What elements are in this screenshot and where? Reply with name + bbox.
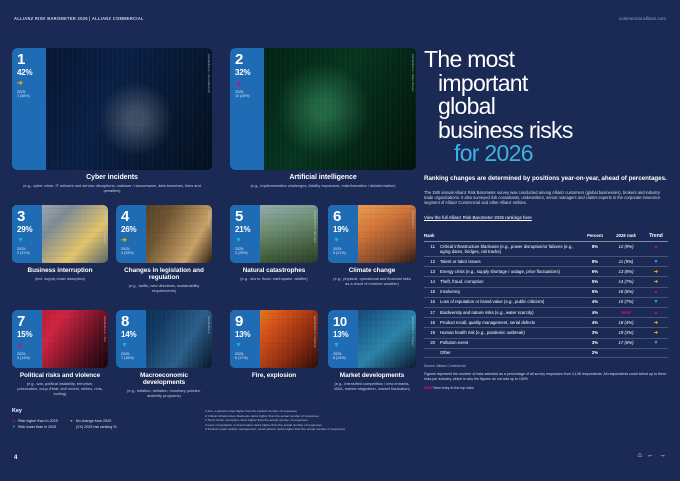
cell-prev-rank: NEW — [608, 310, 644, 315]
risk-percent-9: 13% — [235, 330, 260, 339]
new-key-text: New entry in the top risks — [433, 386, 473, 390]
cell-rank: 13 — [424, 269, 440, 274]
table-header-row: Rank Percent 2025 rank Trend — [424, 232, 668, 243]
risk-title-10: Market developments — [332, 372, 412, 379]
cell-prev-rank: 14 (7%) — [608, 279, 644, 284]
risk-card-4-badge: 4 26% ➔ 2025:4 (25%) — [116, 205, 146, 263]
risk-percent-5: 21% — [235, 225, 260, 234]
trend-arrow-right-icon-1: ➔ — [17, 80, 46, 87]
risk-subtitle-10: (e.g., intensified competition / new ent… — [332, 381, 412, 391]
new-tag-label: NEW — [424, 386, 432, 390]
risk-subtitle-3: (incl. supply chain disruption) — [16, 276, 104, 281]
risk-rank-7: 7 — [17, 315, 42, 329]
risk-card-9[interactable]: AdobeStock / Pamela 9 13% ▼ 2025:6 (17%)… — [230, 310, 318, 381]
cell-rank: 20 — [424, 340, 440, 345]
table-body: 11Critical infrastructure blackouts (e.g… — [424, 242, 668, 358]
risk-card-5-media: AdobeStock / Michael 5 21% ▼ 2025:3 (29%… — [230, 205, 318, 263]
cell-prev-rank: 15 (7%) — [608, 299, 644, 304]
cell-prev-rank: 19 (3%) — [608, 330, 644, 335]
risk-card-10-badge: 10 13% ▼ 2025:8 (14%) — [328, 310, 358, 368]
cell-rank: 14 — [424, 279, 440, 284]
risk-prev-10: 2025:8 (14%) — [333, 352, 358, 361]
key-item-prev-ranking: (XX) 2025 risk ranking % — [70, 424, 117, 430]
title-line-3: global — [424, 95, 668, 119]
photo-credit-3: AdobeStock / Siwakorn — [103, 211, 107, 245]
risk-subtitle-4: (e.g., tariffs, new directives, sustaina… — [120, 283, 208, 293]
risk-prev-8: 2025:7 (16%) — [121, 352, 146, 361]
risk-card-1-caption: Cyber incidents (e.g., cyber crime, IT n… — [12, 174, 212, 193]
legend-key: Key ▲Risk higher than in 2025 ▼Risk lowe… — [12, 408, 212, 431]
next-page-icon[interactable]: → — [659, 452, 666, 459]
table-row: 15Insolvency5%16 (6%)▲ — [424, 288, 668, 298]
risk-rank-4: 4 — [121, 210, 146, 224]
table-row: 18Product recall, quality management, se… — [424, 318, 668, 328]
cell-trend-icon: ▼ — [644, 299, 668, 305]
nav-controls[interactable]: ⌂ ← → — [638, 452, 666, 459]
prev-page-icon[interactable]: ← — [647, 452, 654, 459]
cell-trend-icon: ▲ — [644, 289, 668, 295]
table-row: 17Biodiversity and nature risks (e.g., w… — [424, 308, 668, 318]
page-number: 4 — [14, 455, 17, 461]
risk-card-1-badge: 1 42% ➔ 2025:1 (38%) — [12, 48, 46, 170]
table-source: Source: Allianz Commercial — [424, 364, 668, 368]
cell-prev-rank: 13 (8%) — [608, 269, 644, 274]
cell-risk: Other — [440, 350, 582, 355]
risk-card-2[interactable]: AdobeStock / Blue Planet 2 32% ▲ 2025:10… — [230, 48, 416, 188]
risk-card-6[interactable]: AdobeStock 6 19% ▼ 2025:5 (21%) Climate … — [328, 205, 416, 286]
title-line-2: important — [424, 72, 668, 96]
trend-arrow-down-icon-6: ▼ — [333, 237, 358, 244]
footnotes-list: 1 Fire, explosion rises higher than the … — [205, 409, 417, 432]
risk-card-3[interactable]: AdobeStock / Siwakorn 3 29% ▼ 2025:2 (31… — [12, 205, 108, 281]
risk-rank-5: 5 — [235, 210, 260, 224]
risk-card-6-media: AdobeStock 6 19% ▼ 2025:5 (21%) — [328, 205, 416, 263]
risk-subtitle-1: (e.g., cyber crime, IT network and servi… — [16, 183, 208, 193]
cell-risk: Loss of reputation or brand value (e.g.,… — [440, 299, 582, 304]
col-header-trend: Trend — [644, 233, 668, 239]
cell-rank: 18 — [424, 320, 440, 325]
page-title: The most important global business risks… — [424, 48, 668, 166]
risk-rank-3: 3 — [17, 210, 42, 224]
brand-label: ALLIANZ RISK BAROMETER 2026 | ALLIANZ CO… — [14, 16, 144, 21]
risk-title-1: Cyber incidents — [16, 174, 208, 181]
risk-prev-7: 2025:9 (14%) — [17, 352, 42, 361]
new-entry-key: NEW New entry in the top risks — [424, 386, 668, 390]
risk-card-7-caption: Political risks and violence (e.g., war,… — [12, 372, 108, 396]
cell-rank: 15 — [424, 289, 440, 294]
table-row: 19Human health risk (e.g., pandemic outb… — [424, 328, 668, 338]
cell-trend-icon: ▲ — [644, 244, 668, 250]
risk-percent-8: 14% — [121, 330, 146, 339]
cell-trend-icon: ➔ — [644, 330, 668, 336]
risk-card-8[interactable]: AdobeStock 8 14% ▼ 2025:7 (16%) Macroeco… — [116, 310, 212, 398]
risk-rank-9: 9 — [235, 315, 260, 329]
risk-card-7-media: AdobeStock / Yuri 7 15% ▲ 2025:9 (14%) — [12, 310, 108, 368]
risk-subtitle-5: (e.g., storm, flood, earthquake, wildfir… — [234, 276, 314, 281]
risk-card-1-media: AdobeStock / Gorodenkoff 1 42% ➔ 2025:1 … — [12, 48, 212, 170]
risk-percent-2: 32% — [235, 68, 264, 77]
cell-percent: 5% — [582, 289, 608, 294]
risk-percent-10: 13% — [333, 330, 358, 339]
risk-card-4-caption: Changes in legislation and regulation (e… — [116, 267, 212, 293]
risk-prev-6: 2025:5 (21%) — [333, 247, 358, 256]
photo-credit-7: AdobeStock / Yuri — [103, 316, 107, 342]
col-header-prev-rank: 2025 rank — [608, 233, 644, 238]
table-row: 12Talent or labor issues8%11 (9%)▼ — [424, 257, 668, 267]
trend-arrow-down-icon-9: ▼ — [235, 342, 260, 349]
cell-prev-rank: 17 (6%) — [608, 340, 644, 345]
risk-prev-2: 2025:10 (20%) — [235, 90, 264, 99]
risk-subtitle-8: (e.g., inflation, deflation, monetary po… — [120, 388, 208, 398]
home-icon[interactable]: ⌂ — [638, 452, 642, 459]
footnote-item: 5 Product recall, quality management, se… — [205, 427, 417, 432]
photo-credit-9: AdobeStock / Pamela — [313, 316, 317, 348]
right-panel: The most important global business risks… — [424, 48, 668, 390]
cell-percent: 4% — [582, 299, 608, 304]
risk-card-10-media: AdobeStock / Travel 10 13% ▼ 2025:8 (14%… — [328, 310, 416, 368]
cell-prev-rank: 11 (9%) — [608, 259, 644, 264]
table-note: Figures represent the number of risks se… — [424, 372, 668, 382]
cell-rank: 17 — [424, 310, 440, 315]
trend-arrow-up-icon-2: ▲ — [235, 80, 264, 87]
cell-percent: 5% — [582, 279, 608, 284]
infographic-page: ALLIANZ RISK BAROMETER 2026 | ALLIANZ CO… — [0, 0, 680, 481]
cell-percent: 3% — [582, 330, 608, 335]
cell-risk: Biodiversity and nature risks (e.g., wat… — [440, 310, 582, 315]
top-header-bar: ALLIANZ RISK BAROMETER 2026 | ALLIANZ CO… — [0, 14, 680, 28]
risk-rank-6: 6 — [333, 210, 358, 224]
rankings-table: Rank Percent 2025 rank Trend 11Critical … — [424, 232, 668, 359]
risk-card-5-caption: Natural catastrophes (e.g., storm, flood… — [230, 267, 318, 281]
risk-subtitle-7: (e.g., war, political instability, terro… — [16, 381, 104, 396]
cell-risk: Theft, fraud, corruption — [440, 279, 582, 284]
risk-percent-4: 26% — [121, 225, 146, 234]
key-title: Key — [12, 408, 212, 414]
trend-arrow-down-icon-3: ▼ — [17, 237, 42, 244]
photo-credit-4: AdobeStock — [207, 211, 211, 229]
risk-card-2-badge: 2 32% ▲ 2025:10 (20%) — [230, 48, 264, 170]
risk-title-2: Artificial intelligence — [234, 174, 412, 181]
risk-prev-4: 2025:4 (25%) — [121, 247, 146, 256]
cell-trend-icon: ➔ — [644, 269, 668, 275]
risk-card-3-badge: 3 29% ▼ 2025:2 (31%) — [12, 205, 42, 263]
photo-credit-10: AdobeStock / Travel — [411, 316, 415, 346]
photo-credit-2: AdobeStock / Blue Planet — [411, 54, 415, 92]
cell-percent: 6% — [582, 269, 608, 274]
cell-percent: 8% — [582, 259, 608, 264]
risk-card-8-media: AdobeStock 8 14% ▼ 2025:7 (16%) — [116, 310, 212, 368]
risk-rank-2: 2 — [235, 53, 264, 67]
risk-card-8-badge: 8 14% ▼ 2025:7 (16%) — [116, 310, 146, 368]
table-row: Other2% — [424, 349, 668, 358]
key-column-left: ▲Risk higher than in 2025 ▼Risk lower th… — [12, 418, 58, 431]
table-row: 11Critical infrastructure blackouts (e.g… — [424, 242, 668, 257]
risk-percent-1: 42% — [17, 68, 46, 77]
cell-percent: 8% — [582, 244, 608, 249]
key-item-risk-lower: ▼Risk lower than in 2025 — [12, 424, 58, 430]
risk-card-2-caption: Artificial intelligence (e.g., implement… — [230, 174, 416, 188]
risk-card-3-caption: Business interruption (incl. supply chai… — [12, 267, 108, 281]
cell-risk: Insolvency — [440, 289, 582, 294]
risk-cards-grid: AdobeStock / Gorodenkoff 1 42% ➔ 2025:1 … — [12, 48, 416, 398]
risk-card-10-caption: Market developments (e.g., intensified c… — [328, 372, 416, 391]
cell-prev-rank: 18 (4%) — [608, 320, 644, 325]
cell-rank: 12 — [424, 259, 440, 264]
risk-rank-8: 8 — [121, 315, 146, 329]
risk-title-8: Macroeconomic developments — [120, 372, 208, 386]
cell-risk: Talent or labor issues — [440, 259, 582, 264]
trend-arrow-down-icon-10: ▼ — [333, 342, 358, 349]
key-column-right: ➔No change from 2025 (XX) 2025 risk rank… — [70, 418, 117, 431]
cell-prev-rank: 12 (9%) — [608, 244, 644, 249]
table-row: 16Loss of reputation or brand value (e.g… — [424, 298, 668, 308]
risk-card-2-media: AdobeStock / Blue Planet 2 32% ▲ 2025:10… — [230, 48, 416, 170]
risk-prev-1: 2025:1 (38%) — [17, 90, 46, 99]
risk-card-10[interactable]: AdobeStock / Travel 10 13% ▼ 2025:8 (14%… — [328, 310, 416, 391]
risk-card-1[interactable]: AdobeStock / Gorodenkoff 1 42% ➔ 2025:1 … — [12, 48, 212, 193]
table-row: 20Pollution event3%17 (6%)▼ — [424, 339, 668, 349]
risk-card-5-badge: 5 21% ▼ 2025:3 (29%) — [230, 205, 260, 263]
cell-percent: 4% — [582, 310, 608, 315]
photo-credit-5: AdobeStock / Michael — [313, 211, 317, 243]
risk-card-9-caption: Fire, explosion — [230, 372, 318, 379]
risk-title-3: Business interruption — [16, 267, 104, 274]
risk-prev-3: 2025:2 (31%) — [17, 247, 42, 256]
risk-card-3-media: AdobeStock / Siwakorn 3 29% ▼ 2025:2 (31… — [12, 205, 108, 263]
title-line-4: business risks — [424, 119, 668, 143]
risk-rank-10: 10 — [333, 315, 358, 329]
risk-card-7-badge: 7 15% ▲ 2025:9 (14%) — [12, 310, 42, 368]
risk-card-4[interactable]: AdobeStock 4 26% ➔ 2025:4 (25%) Changes … — [116, 205, 212, 293]
risk-title-5: Natural catastrophes — [234, 267, 314, 274]
cell-percent: 2% — [582, 350, 608, 355]
risk-card-5[interactable]: AdobeStock / Michael 5 21% ▼ 2025:3 (29%… — [230, 205, 318, 281]
risk-title-6: Climate change — [332, 267, 412, 274]
risk-card-9-media: AdobeStock / Pamela 9 13% ▼ 2025:6 (17%) — [230, 310, 318, 368]
col-header-percent: Percent — [582, 233, 608, 238]
trend-arrow-up-icon-7: ▲ — [17, 342, 42, 349]
cell-risk: Critical infrastructure blackouts (e.g.,… — [440, 244, 582, 255]
trend-arrow-right-icon-4: ➔ — [121, 237, 146, 244]
risk-rank-1: 1 — [17, 53, 46, 67]
photo-credit-8: AdobeStock — [207, 316, 211, 334]
cell-risk: Human health risk (e.g., pandemic outbre… — [440, 330, 582, 335]
photo-credit-1: AdobeStock / Gorodenkoff — [207, 54, 211, 93]
cell-risk: Product recall, quality management, seri… — [440, 320, 582, 325]
risk-card-6-badge: 6 19% ▼ 2025:5 (21%) — [328, 205, 358, 263]
cell-risk: Energy crisis (e.g., supply shortage / o… — [440, 269, 582, 274]
cell-trend-icon: ➔ — [644, 279, 668, 285]
cell-trend-icon: ▼ — [644, 340, 668, 346]
risk-title-9: Fire, explosion — [234, 372, 314, 379]
risk-subtitle-2: (e.g., implementation challenges, liabil… — [234, 183, 412, 188]
col-header-rank: Rank — [424, 233, 440, 238]
risk-card-6-caption: Climate change (e.g., physical, operatio… — [328, 267, 416, 286]
table-row: 14Theft, fraud, corruption5%14 (7%)➔ — [424, 277, 668, 287]
cell-trend-icon: ▲ — [644, 310, 668, 316]
trend-arrow-down-icon-8: ▼ — [121, 342, 146, 349]
risk-card-9-badge: 9 13% ▼ 2025:6 (17%) — [230, 310, 260, 368]
title-line-1: The most — [424, 48, 668, 72]
risk-card-8-caption: Macroeconomic developments (e.g., inflat… — [116, 372, 212, 398]
risk-percent-7: 15% — [17, 330, 42, 339]
rankings-link[interactable]: View the full Allianz Risk Barometer 202… — [424, 215, 532, 220]
website-url-label: commercial.allianz.com — [619, 16, 666, 21]
risk-title-7: Political risks and violence — [16, 372, 104, 379]
intro-paragraph: The 15th annual Allianz Risk Barometer s… — [424, 190, 668, 206]
cell-percent: 3% — [582, 340, 608, 345]
trend-arrow-down-icon-5: ▼ — [235, 237, 260, 244]
risk-title-4: Changes in legislation and regulation — [120, 267, 208, 281]
cell-rank: 16 — [424, 299, 440, 304]
cell-percent: 4% — [582, 320, 608, 325]
photo-credit-6: AdobeStock — [411, 211, 415, 229]
risk-subtitle-6: (e.g., physical, operational and financi… — [332, 276, 412, 286]
risk-percent-6: 19% — [333, 225, 358, 234]
risk-card-7[interactable]: AdobeStock / Yuri 7 15% ▲ 2025:9 (14%) P… — [12, 310, 108, 396]
risk-card-4-media: AdobeStock 4 26% ➔ 2025:4 (25%) — [116, 205, 212, 263]
table-row: 13Energy crisis (e.g., supply shortage /… — [424, 267, 668, 277]
title-line-5: for 2026 — [424, 142, 668, 166]
title-subtitle: Ranking changes are determined by positi… — [424, 175, 668, 183]
risk-percent-3: 29% — [17, 225, 42, 234]
key-columns: ▲Risk higher than in 2025 ▼Risk lower th… — [12, 418, 212, 431]
cell-trend-icon: ▼ — [644, 259, 668, 265]
cell-risk: Pollution event — [440, 340, 582, 345]
cell-rank: 11 — [424, 244, 440, 249]
risk-prev-5: 2025:3 (29%) — [235, 247, 260, 256]
cell-prev-rank: 16 (6%) — [608, 289, 644, 294]
risk-prev-9: 2025:6 (17%) — [235, 352, 260, 361]
cell-rank: 19 — [424, 330, 440, 335]
cell-trend-icon: ➔ — [644, 320, 668, 326]
